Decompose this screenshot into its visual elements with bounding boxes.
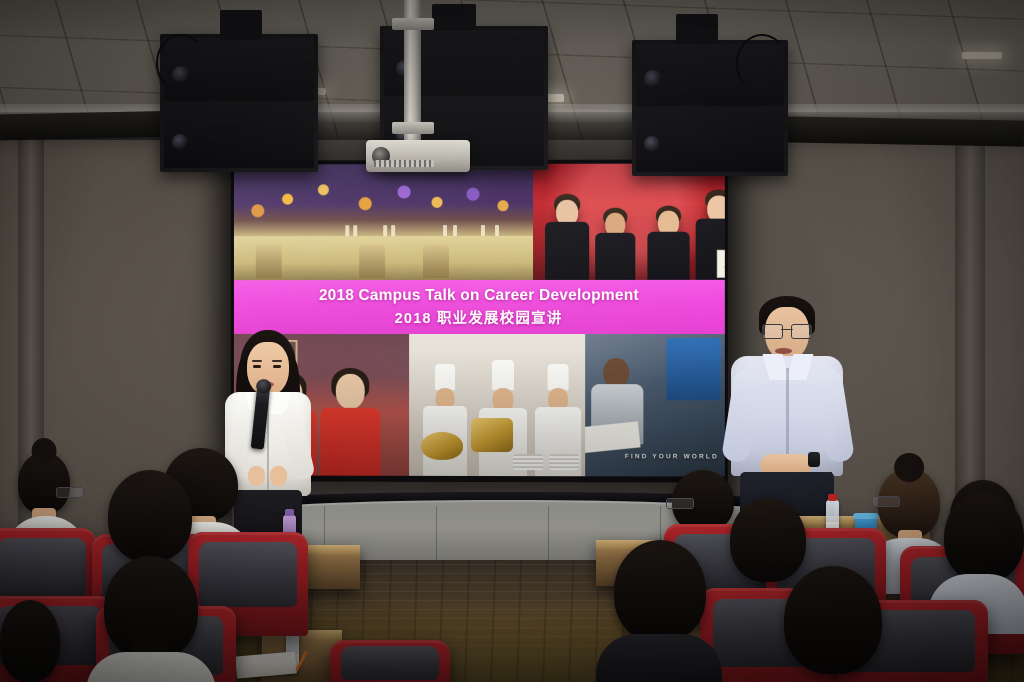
bar-bottle [353,225,357,236]
bar-stool [423,244,449,278]
slide-title-english: 2018 Campus Talk on Career Development [319,286,639,304]
bar-stool [256,244,282,278]
bar-bottle [495,225,499,236]
hotel-staff-photo: EVENT AHEAD [533,163,725,280]
bar-bottle [391,225,395,236]
audience-head [730,498,806,582]
staff-member [539,194,595,280]
bar-bottle [453,225,457,236]
event-ahead-sign: EVENT AHEAD [717,250,725,278]
vest [545,222,589,280]
chef-hat [548,364,569,390]
eyeglasses [666,498,694,509]
auditorium-photograph: EVENT AHEAD 2018 Campus Talk on Career D… [0,0,1024,682]
seat-headrest [199,542,297,606]
staff-member [589,208,641,280]
slide-tagline: FIND YOUR WORLD [625,453,719,460]
staff-member [641,206,695,280]
cable-loop [736,34,788,94]
wristwatch [808,452,820,467]
bar-bottle [481,225,485,236]
center-projector-body [366,140,470,172]
seat-headrest [0,538,86,598]
ceiling-lamp [962,52,1002,59]
slide-title-banner: 2018 Campus Talk on Career Development 2… [234,280,725,334]
audience-head [104,556,198,660]
projector-mount-box [432,4,476,30]
eyeglasses [872,496,900,507]
vest [647,232,689,280]
linen-sheet [585,421,640,453]
audience-head [18,452,70,514]
pole-collar [392,122,434,134]
pole-collar [392,18,434,30]
chef-hat [492,360,514,390]
plate-stack [513,454,543,470]
projector-lens [172,66,190,84]
ceiling-projector-rig-left [150,8,330,170]
laundry-machine [666,338,720,400]
eye [253,365,261,368]
eyebrow [272,360,282,362]
slide-top-band: EVENT AHEAD [234,163,725,280]
audience-head [614,540,706,642]
projector-lens [644,136,660,152]
eyeglasses [56,487,84,498]
bar-bottle [383,225,387,236]
seat-headrest [341,646,439,681]
chafing-dish [421,432,463,460]
red-uniform [320,408,380,476]
slide-title-chinese: 2018 职业发展校园宣讲 [395,306,563,327]
hand [270,466,287,486]
bottle-cap [285,509,294,516]
projector-mount-box [220,10,262,40]
face [336,374,365,409]
audience-head [784,566,882,674]
lens [791,324,812,339]
audience-head [0,600,60,682]
vest [595,233,635,280]
hand [248,466,265,486]
eyeglasses [762,324,812,337]
ceiling-projector-rig-right [624,12,804,176]
audience-head [108,470,192,562]
plate-stack [549,454,579,470]
panel-seam [548,506,549,564]
shirt-placket [267,402,269,490]
bottle-cap [828,494,837,501]
steamer-basket [471,418,513,452]
bar-stool [359,244,385,278]
panel-seam [436,506,437,564]
chef-hat [435,364,455,390]
housekeeping-photo: FIND YOUR WORLD [585,334,725,477]
bar-event-photo [234,164,533,280]
projector-mount-box [676,14,718,44]
lens [762,324,783,339]
projector-lens [644,70,662,88]
staff-member [317,368,383,476]
kitchen-chefs-photo [409,334,585,476]
audience-head [944,492,1024,582]
projector-lens [172,134,188,150]
sign-line-2: AHEAD [724,264,725,270]
auditorium-seat[interactable] [330,640,450,682]
audience-shoulders [596,634,722,682]
bar-bottle [443,225,447,236]
bar-bottle [345,225,349,236]
eye [273,365,281,368]
projector-vent [374,160,434,167]
eyebrow [252,360,262,362]
